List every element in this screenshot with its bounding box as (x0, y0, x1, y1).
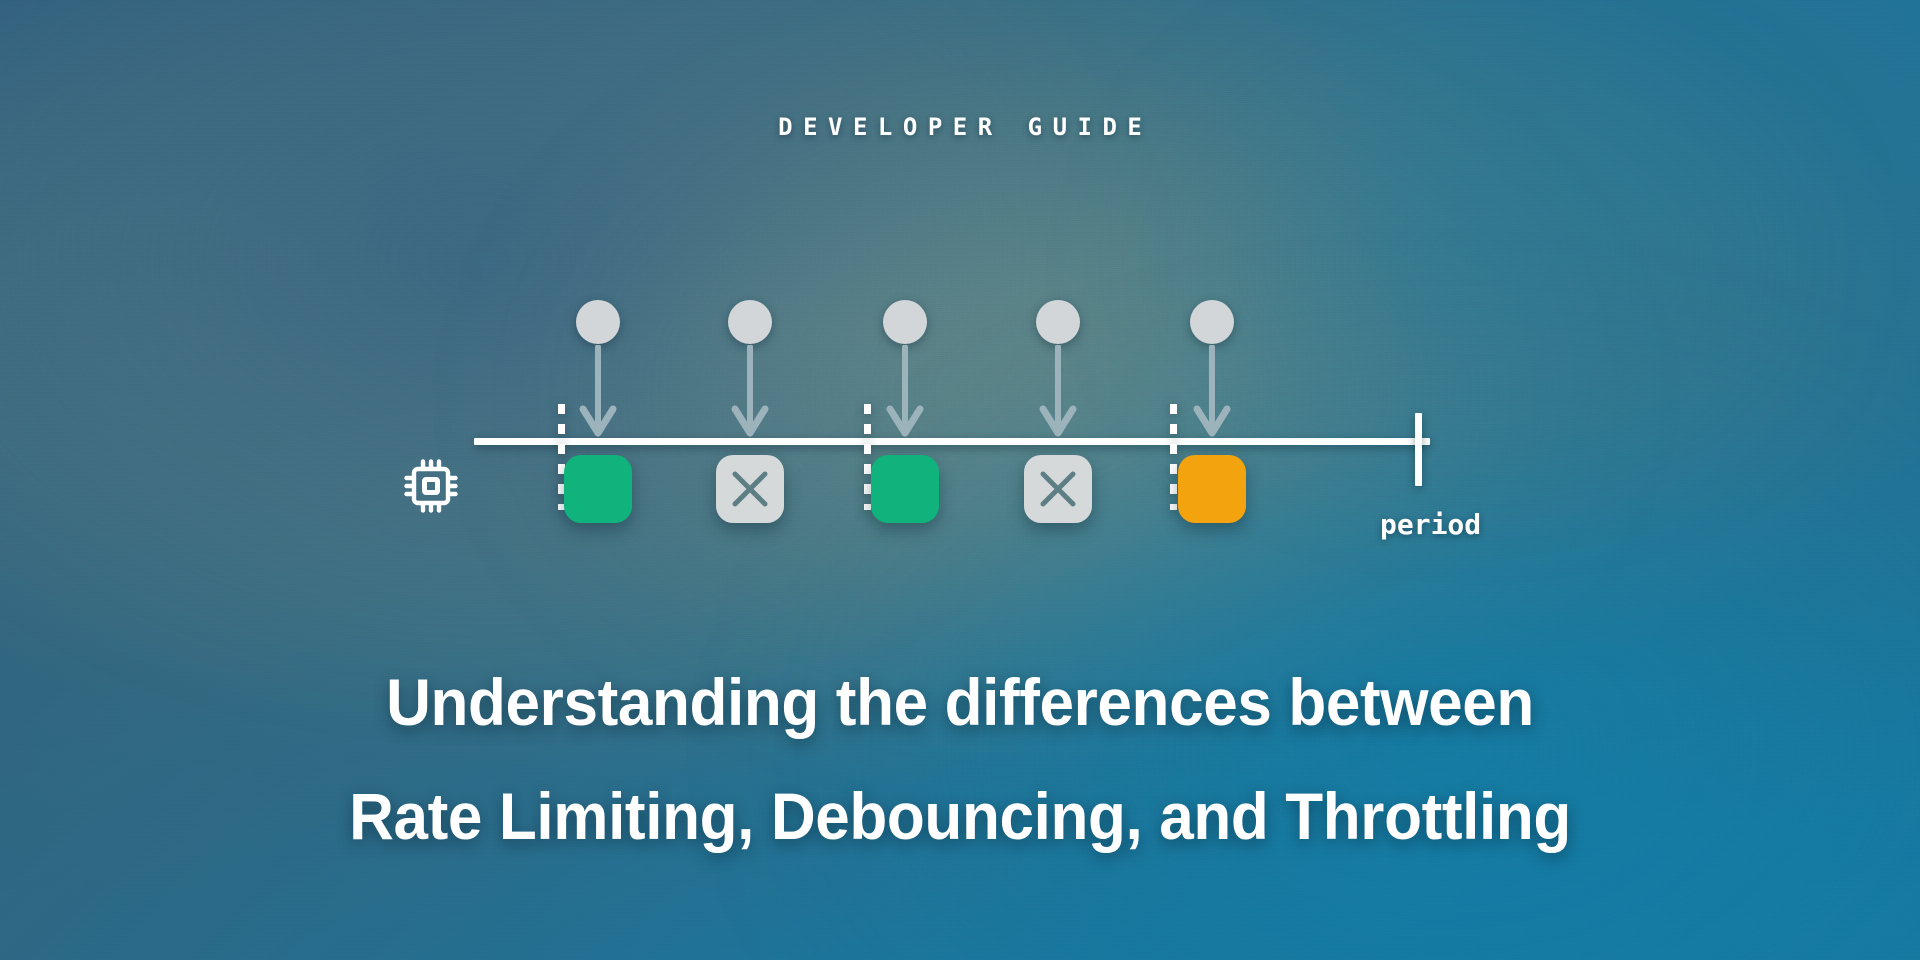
timeline-end-tick (1415, 413, 1422, 486)
request-dot-icon (1190, 300, 1234, 344)
request-arrow-icon (579, 345, 617, 440)
period-divider (1170, 404, 1177, 510)
request-slot-rejected (1024, 455, 1092, 523)
request-slot-allowed (564, 455, 632, 523)
request-arrow-icon (1039, 345, 1077, 440)
request-dot-icon (883, 300, 927, 344)
page-title-line-2: Rate Limiting, Debouncing, and Throttlin… (58, 759, 1863, 873)
timeline-diagram: period (0, 0, 1920, 640)
timeline-axis (474, 438, 1430, 445)
period-divider (864, 404, 871, 510)
close-x-icon (1035, 466, 1081, 512)
page-title: Understanding the differences between Ra… (58, 645, 1863, 873)
request-slot-allowed (871, 455, 939, 523)
page-title-line-1: Understanding the differences between (58, 645, 1863, 759)
request-arrow-icon (886, 345, 924, 440)
request-slot-rejected (716, 455, 784, 523)
close-x-icon (727, 466, 773, 512)
cpu-chip-icon (400, 455, 462, 517)
request-arrow-icon (731, 345, 769, 440)
period-label: period (1380, 508, 1481, 541)
request-arrow-icon (1193, 345, 1231, 440)
request-dot-icon (576, 300, 620, 344)
request-dot-icon (1036, 300, 1080, 344)
request-slot-limited (1178, 455, 1246, 523)
request-dot-icon (728, 300, 772, 344)
